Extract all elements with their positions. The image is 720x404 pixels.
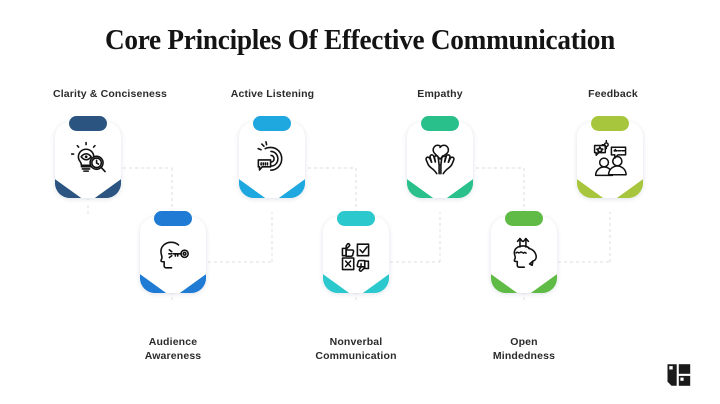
card-label-feedback: Feedback — [548, 88, 678, 102]
lightbulb-eye-magnifier-icon — [55, 122, 121, 198]
card-top-tab — [154, 211, 192, 226]
card-audience-awareness[interactable] — [140, 211, 206, 293]
card-label-open-mindedness: Open Mindedness — [463, 336, 585, 363]
card-feedback[interactable] — [577, 116, 643, 198]
card-top-tab — [337, 211, 375, 226]
open-head-lid-icon — [491, 217, 557, 293]
card-label-clarity-conciseness: Clarity & Conciseness — [10, 88, 210, 102]
card-top-tab — [505, 211, 543, 226]
card-top-tab — [253, 116, 291, 131]
page-title: Core Principles Of Effective Communicati… — [22, 24, 699, 57]
card-top-tab — [421, 116, 459, 131]
brand-logo-mark — [666, 362, 692, 388]
card-open-mindedness[interactable] — [491, 211, 557, 293]
card-top-tab — [591, 116, 629, 131]
card-label-audience-awareness: Audience Awareness — [112, 336, 234, 363]
card-nonverbal-communication[interactable] — [323, 211, 389, 293]
card-top-tab — [69, 116, 107, 131]
thumbs-check-cross-grid-icon — [323, 217, 389, 293]
card-clarity-conciseness[interactable] — [55, 116, 121, 198]
card-label-active-listening: Active Listening — [185, 88, 360, 102]
card-empathy[interactable] — [407, 116, 473, 198]
card-label-empathy: Empathy — [370, 88, 510, 102]
card-active-listening[interactable] — [239, 116, 305, 198]
card-label-nonverbal-communication: Nonverbal Communication — [295, 336, 417, 363]
hands-holding-heart-icon — [407, 122, 473, 198]
infographic-slide: Core Principles Of Effective Communicati… — [0, 0, 720, 404]
people-rating-bubbles-icon — [577, 122, 643, 198]
head-profile-key-icon — [140, 217, 206, 293]
ear-speech-bubble-icon — [239, 122, 305, 198]
